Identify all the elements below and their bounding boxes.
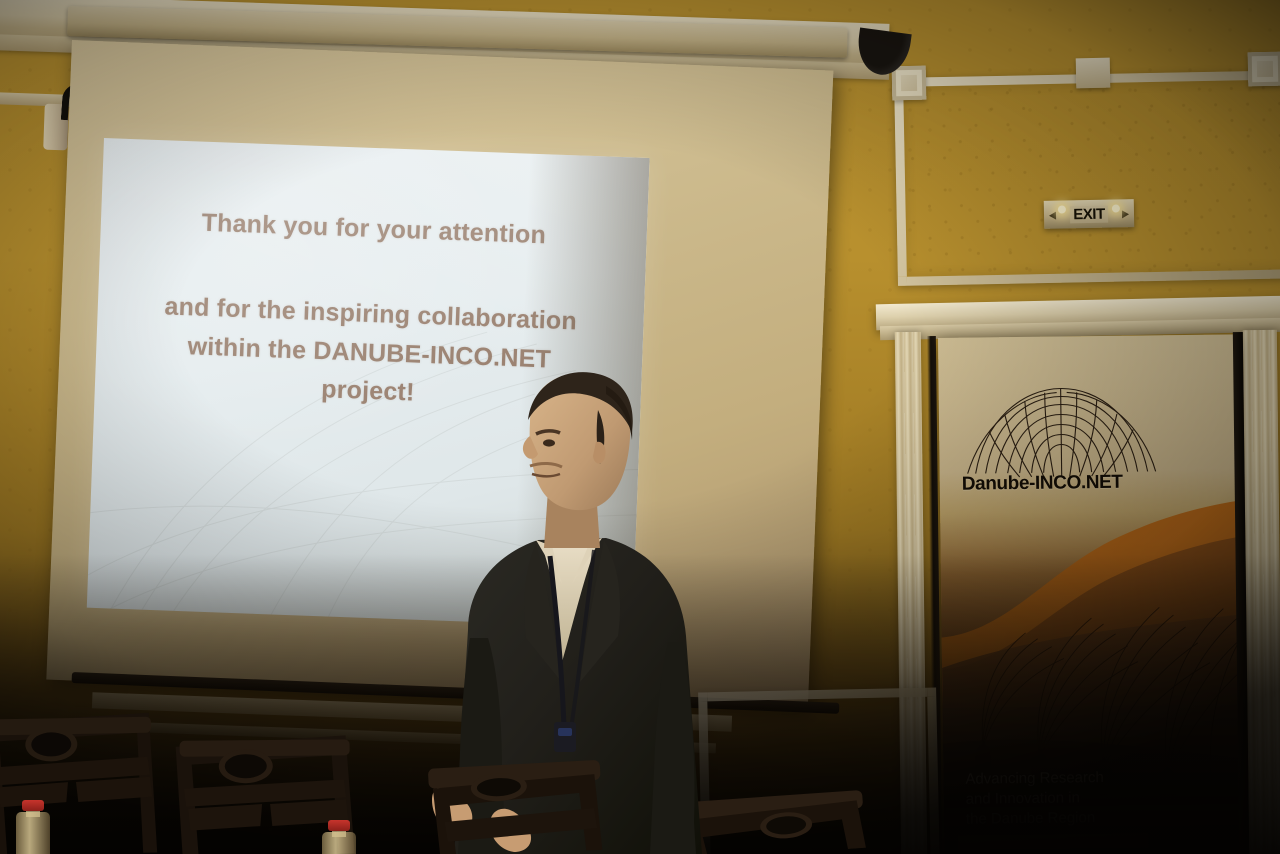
panel-wallpaper-pattern <box>903 79 1280 276</box>
molding-rosette <box>1248 52 1280 87</box>
slide-headline: Thank you for your attention <box>134 201 613 257</box>
fluted-pilaster <box>1243 330 1280 854</box>
molding-rosette <box>892 66 927 101</box>
danube-inco-net-logo-icon <box>960 371 1161 483</box>
conference-chair <box>424 757 619 854</box>
bottle-body <box>16 812 50 854</box>
exit-sign-label: EXIT <box>1070 205 1108 223</box>
danube-inco-net-banner: Danube-INCO.NET <box>938 334 1244 854</box>
exit-arrow-left-icon <box>1049 212 1056 220</box>
conference-room-photo: EXIT Thank you for your attention <box>0 0 1280 854</box>
bottle-cap <box>328 820 350 831</box>
banner-tagline-line-1: Advancing Research <box>965 768 1104 789</box>
banner-accent-strip <box>958 833 1148 849</box>
bottle-cap <box>22 800 44 811</box>
banner-tagline: Advancing Research and Innovation in the… <box>965 768 1104 829</box>
banner-logo-text: Danube-INCO.NET <box>962 472 1123 496</box>
banner-tagline-line-2: and Innovation in <box>966 788 1105 809</box>
exit-sign: EXIT <box>1044 199 1135 229</box>
molding-keystone <box>1076 58 1111 89</box>
chair-back-shape <box>424 757 619 854</box>
exit-sign-bulb <box>1058 205 1066 213</box>
wall-molding-panel <box>894 70 1280 286</box>
exit-arrow-right-icon <box>1122 210 1129 218</box>
exit-sign-bulb <box>1112 204 1120 212</box>
water-bottle <box>16 800 52 854</box>
banner-tagline-line-3: the Danube Region <box>966 808 1105 829</box>
water-bottle <box>322 820 354 854</box>
